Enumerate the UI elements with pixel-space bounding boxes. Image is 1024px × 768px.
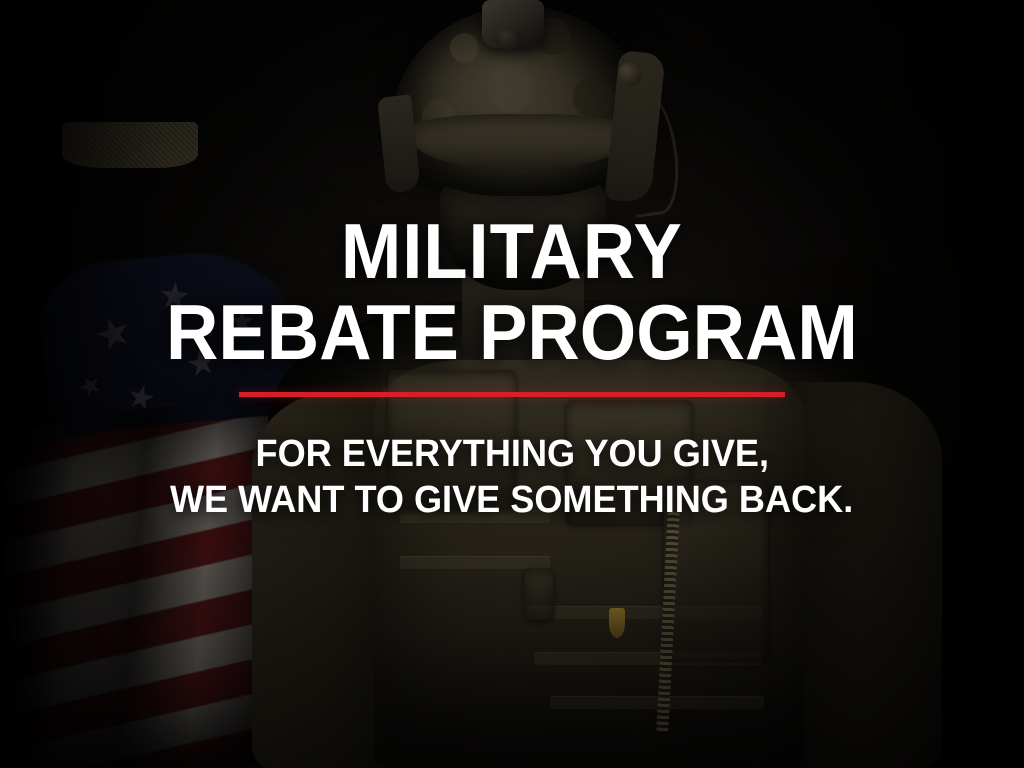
banner-content: MILITARY REBATE PROGRAM FOR EVERYTHING Y… (0, 0, 1024, 768)
subheadline-line-one: FOR EVERYTHING YOU GIVE, (255, 433, 769, 476)
promotional-banner: MILITARY REBATE PROGRAM FOR EVERYTHING Y… (0, 0, 1024, 768)
subheadline-line-two: WE WANT TO GIVE SOMETHING BACK. (170, 479, 853, 522)
headline-line-one: MILITARY (341, 214, 683, 289)
red-divider-rule (239, 392, 785, 397)
headline-line-two: REBATE PROGRAM (166, 295, 858, 370)
